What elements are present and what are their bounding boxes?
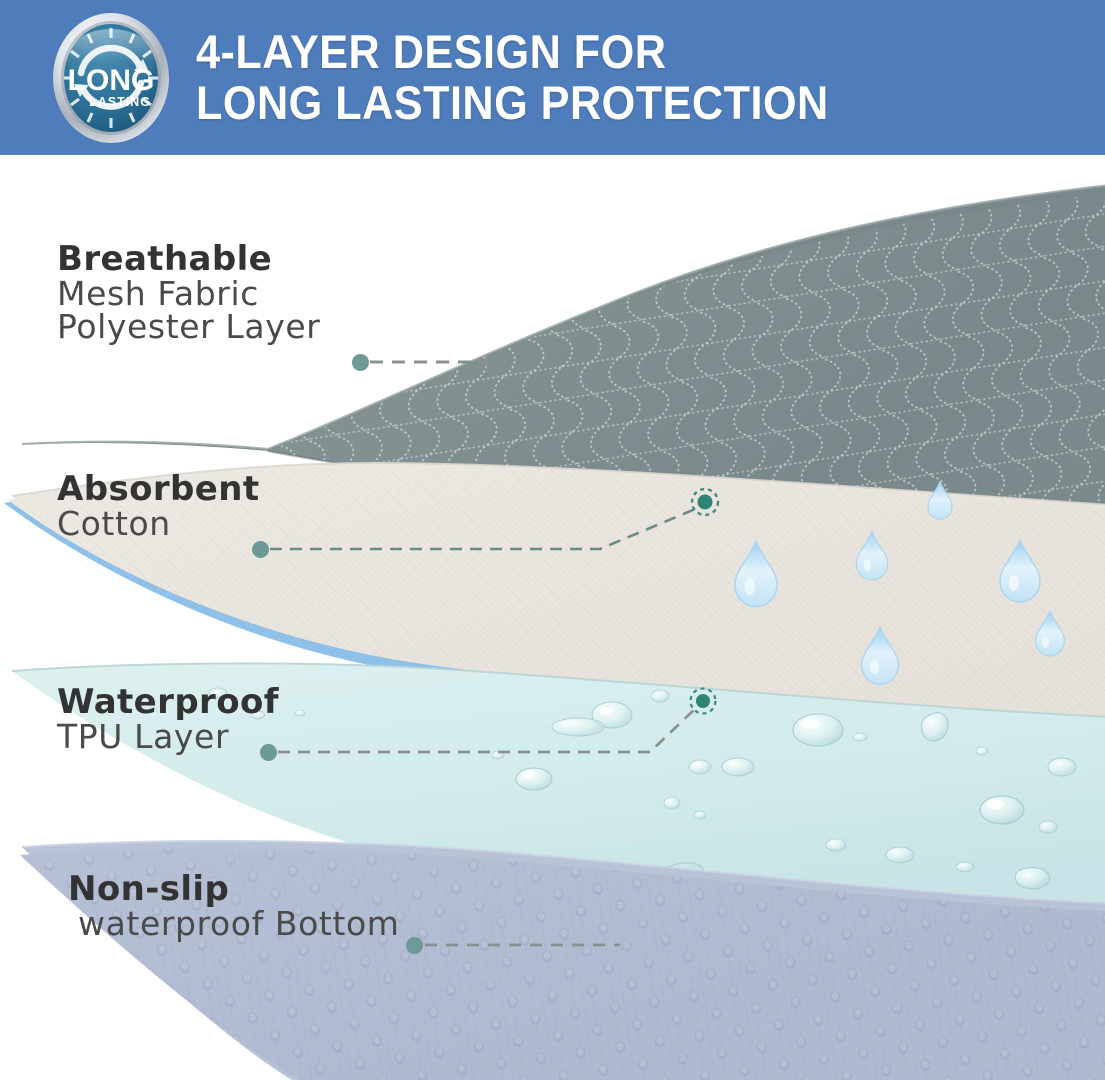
target-dot-icon	[698, 495, 713, 510]
bead-icon	[651, 690, 669, 702]
bead-icon	[793, 714, 843, 746]
label-breathable: Breathable Mesh Fabric Polyester Layer	[57, 242, 320, 344]
bead-icon	[516, 768, 552, 790]
bead-icon	[921, 713, 948, 741]
label-nonslip: Non-slip waterproof Bottom	[68, 872, 400, 940]
connector-dot-absorbent	[252, 541, 269, 558]
title-line-1: 4-LAYER DESIGN FOR	[196, 27, 829, 77]
page-title: 4-LAYER DESIGN FOR LONG LASTING PROTECTI…	[196, 27, 829, 128]
label-absorbent-line2: Cotton	[57, 507, 259, 541]
connector-dot-breathable	[352, 354, 369, 371]
label-waterproof: Waterproof TPU Layer	[57, 685, 279, 753]
bead-icon	[552, 718, 604, 736]
label-waterproof-title: Waterproof	[57, 685, 279, 720]
label-breathable-title: Breathable	[57, 242, 320, 277]
label-breathable-line3: Polyester Layer	[57, 310, 320, 344]
badge-text-lasting: LASTING	[89, 95, 151, 109]
badge-icon: LONG LASTING	[48, 11, 174, 145]
header-banner: LONG LASTING 4-LAYER DESIGN FOR LONG LAS…	[0, 0, 1105, 155]
label-breathable-line2: Mesh Fabric	[57, 277, 320, 311]
infographic-page: LONG LASTING 4-LAYER DESIGN FOR LONG LAS…	[0, 0, 1105, 1080]
title-line-2: LONG LASTING PROTECTION	[196, 78, 829, 128]
target-dot-icon	[696, 694, 710, 708]
bead-icon	[722, 758, 754, 776]
label-nonslip-title: Non-slip	[68, 872, 400, 907]
long-lasting-badge: LONG LASTING	[48, 11, 174, 145]
label-nonslip-line2: waterproof Bottom	[78, 907, 400, 941]
label-absorbent: Absorbent Cotton	[57, 472, 259, 540]
bead-icon	[980, 796, 1024, 824]
label-absorbent-title: Absorbent	[57, 472, 259, 507]
label-waterproof-line2: TPU Layer	[57, 720, 279, 754]
connector-dot-nonslip	[406, 937, 423, 954]
